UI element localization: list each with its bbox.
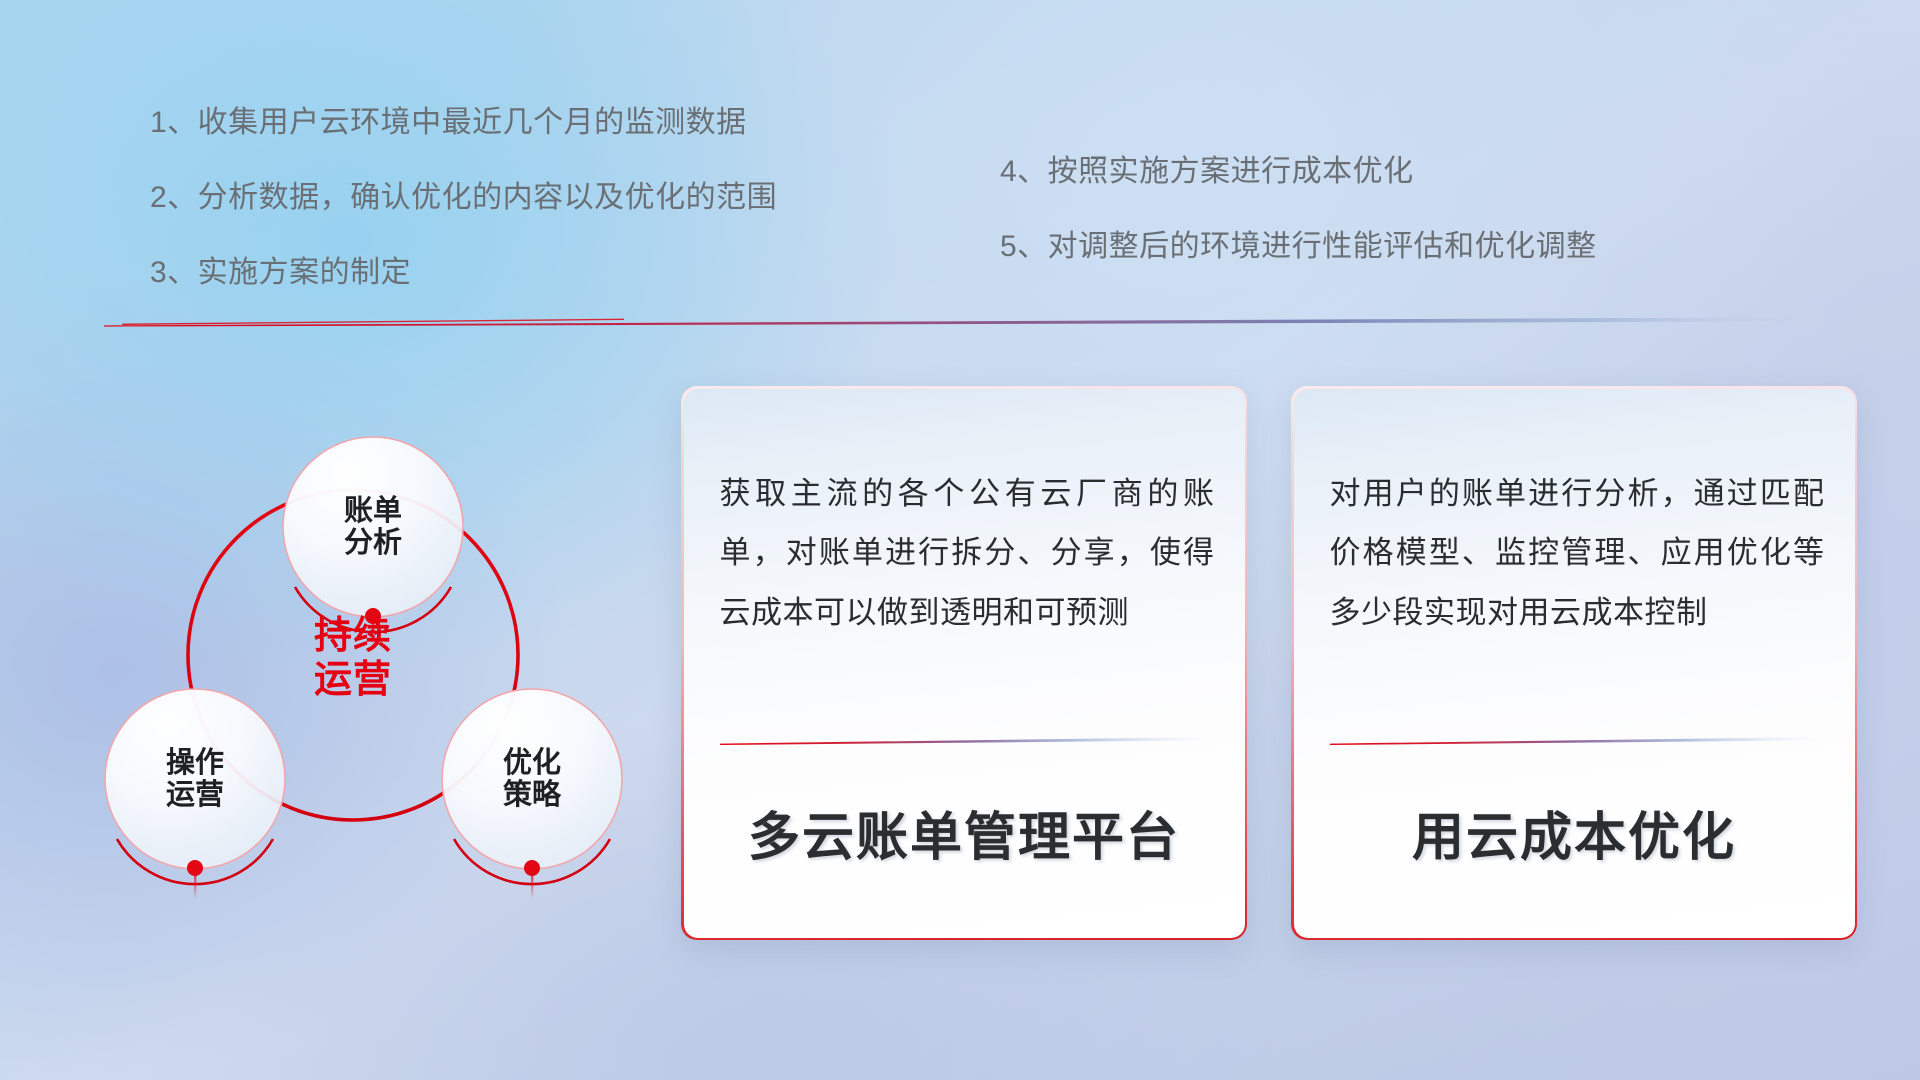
process-steps-left-column: 1、收集用户云环境中最近几个月的监测数据 2、分析数据，确认优化的内容以及优化的… bbox=[150, 108, 777, 333]
venn-dot-bottom-left bbox=[187, 860, 203, 876]
venn-dot-top bbox=[365, 608, 381, 624]
process-step-4: 4、按照实施方案进行成本优化 bbox=[1000, 157, 1597, 187]
feature-card-title: 用云成本优化 bbox=[1294, 795, 1855, 870]
process-step-3: 3、实施方案的制定 bbox=[150, 258, 777, 288]
venn-dot-bottom-right bbox=[524, 860, 540, 876]
feature-card-inner: 获取主流的各个公有云厂商的账单，对账单进行拆分、分享，使得云成本可以做到透明和可… bbox=[684, 389, 1245, 938]
process-steps-right-column: 4、按照实施方案进行成本优化 5、对调整后的环境进行性能评估和优化调整 bbox=[1000, 157, 1597, 307]
feature-card-title: 多云账单管理平台 bbox=[684, 795, 1245, 870]
slide-canvas: 1、收集用户云环境中最近几个月的监测数据 2、分析数据，确认优化的内容以及优化的… bbox=[0, 0, 1920, 1080]
venn-bubble-bottom-right bbox=[442, 689, 622, 869]
venn-bubble-bottom-left bbox=[105, 689, 285, 869]
feature-card-accent-rule bbox=[1330, 734, 1818, 746]
feature-card-cloud-cost-optimization[interactable]: 对用户的账单进行分析，通过匹配价格模型、监控管理、应用优化等多少段实现对用云成本… bbox=[1291, 386, 1857, 940]
feature-card-multi-cloud-bill-platform[interactable]: 获取主流的各个公有云厂商的账单，对账单进行拆分、分享，使得云成本可以做到透明和可… bbox=[681, 386, 1247, 940]
feature-card-accent-rule bbox=[720, 734, 1208, 746]
process-step-1: 1、收集用户云环境中最近几个月的监测数据 bbox=[150, 108, 777, 138]
venn-svg bbox=[95, 345, 675, 965]
feature-card-inner: 对用户的账单进行分析，通过匹配价格模型、监控管理、应用优化等多少段实现对用云成本… bbox=[1294, 389, 1855, 938]
feature-card-description: 对用户的账单进行分析，通过匹配价格模型、监控管理、应用优化等多少段实现对用云成本… bbox=[1330, 464, 1825, 643]
feature-card-description: 获取主流的各个公有云厂商的账单，对账单进行拆分、分享，使得云成本可以做到透明和可… bbox=[720, 464, 1215, 643]
venn-bubble-top bbox=[283, 437, 463, 617]
process-step-5: 5、对调整后的环境进行性能评估和优化调整 bbox=[1000, 232, 1597, 262]
continuous-operation-venn-diagram: 持续 运营 账单 分析 操作 运营 优化 策略 bbox=[95, 345, 675, 965]
process-step-2: 2、分析数据，确认优化的内容以及优化的范围 bbox=[150, 183, 777, 213]
